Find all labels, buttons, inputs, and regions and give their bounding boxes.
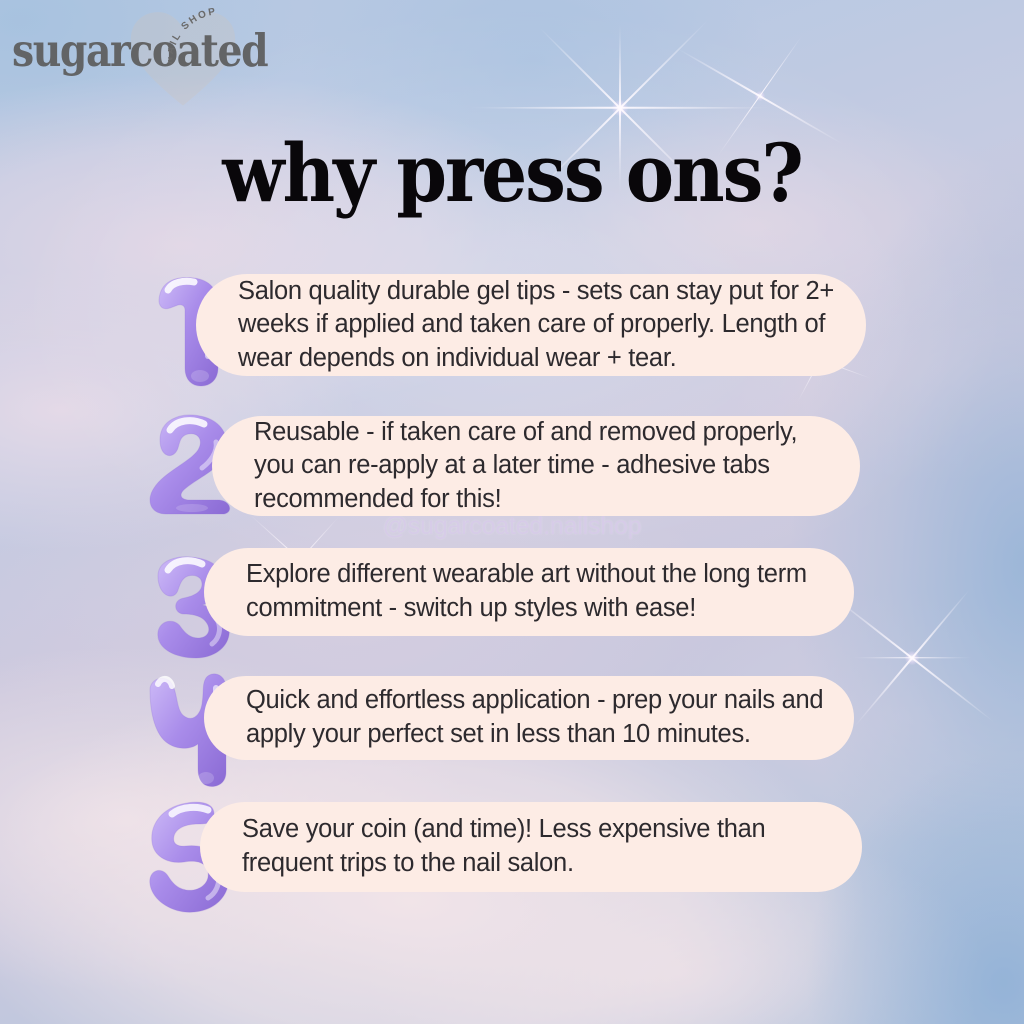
benefit-text-5: Save your coin (and time)! Less expensiv… [242, 813, 832, 880]
benefit-text-4: Quick and effortless application - prep … [246, 684, 824, 751]
benefit-card-1: Salon quality durable gel tips - sets ca… [196, 274, 866, 376]
benefit-text-3: Explore different wearable art without t… [246, 558, 824, 625]
watermark: @sugarcoated.nailshop [0, 512, 1024, 541]
benefit-text-2: Reusable - if taken care of and removed … [254, 416, 830, 517]
benefit-card-3: Explore different wearable art without t… [204, 548, 854, 636]
benefit-card-4: Quick and effortless application - prep … [204, 676, 854, 760]
benefit-card-5: Save your coin (and time)! Less expensiv… [200, 802, 862, 892]
benefit-card-2: Reusable - if taken care of and removed … [212, 416, 860, 516]
infographic-canvas: sugarcoated NAIL SHOP why press ons? [0, 0, 1024, 1024]
benefit-text-1: Salon quality durable gel tips - sets ca… [238, 275, 836, 376]
